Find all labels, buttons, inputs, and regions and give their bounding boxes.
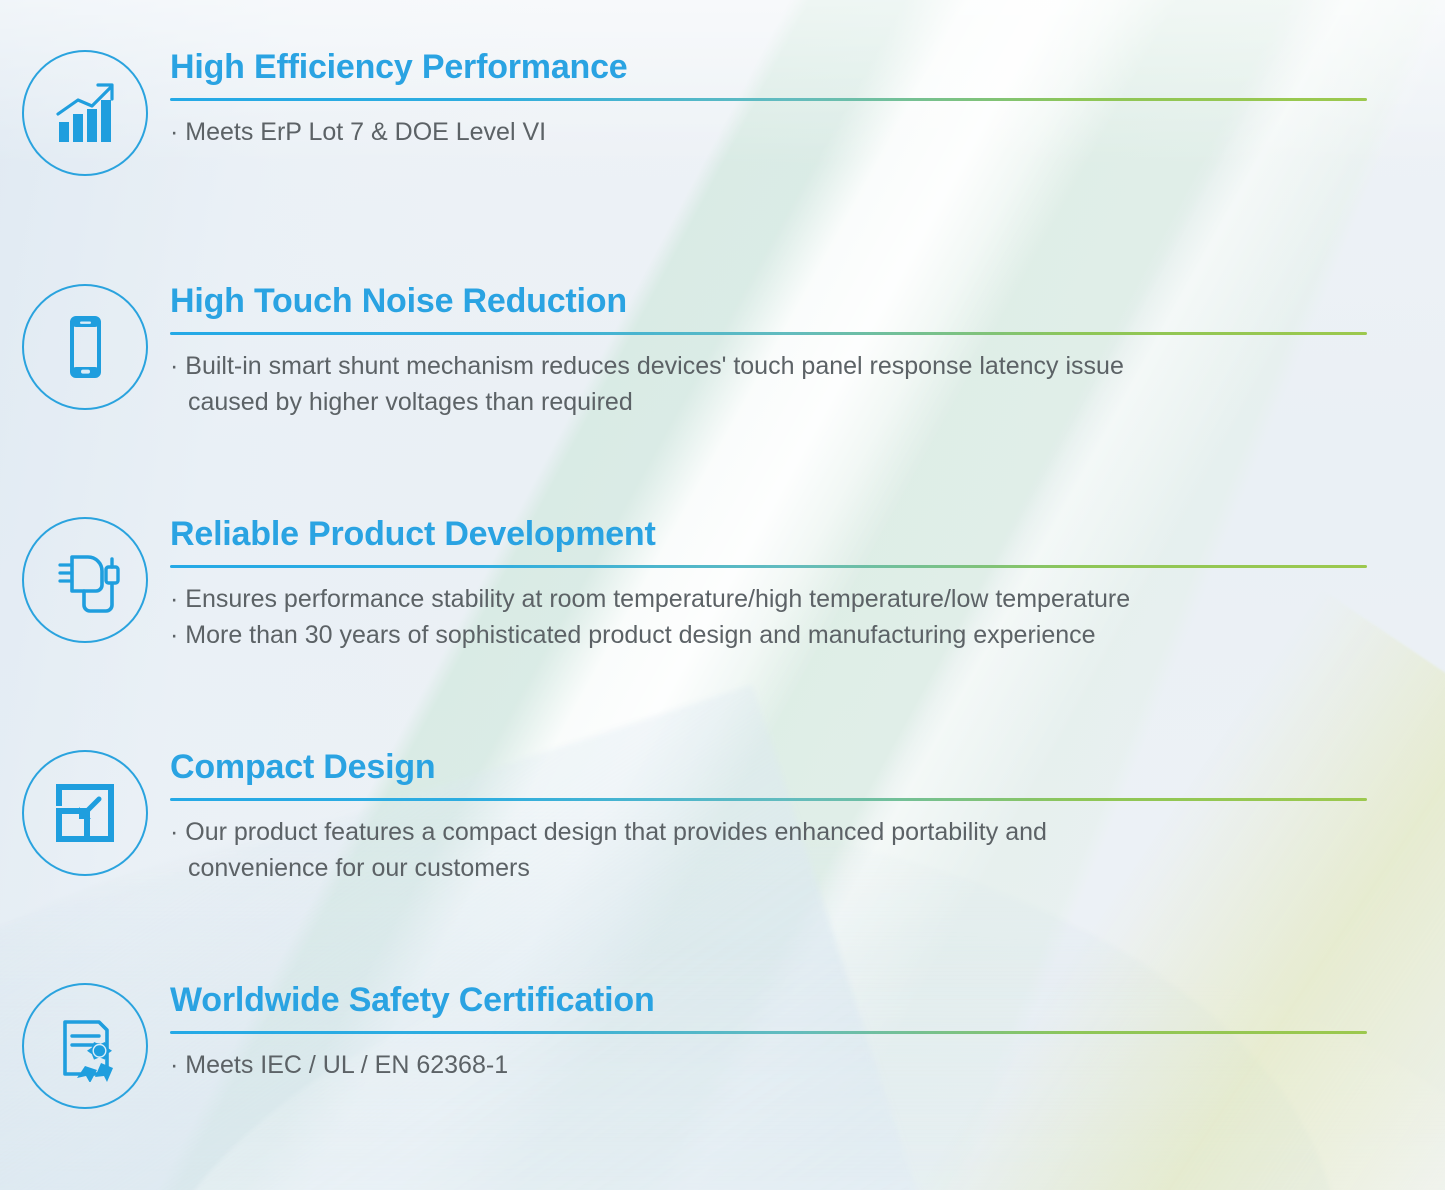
feature-title: Reliable Product Development: [170, 515, 1367, 554]
smartphone-icon: [22, 284, 148, 410]
feature-description: · Meets IEC / UL / EN 62368-1: [170, 1048, 1367, 1084]
feature-description-line: caused by higher voltages than required: [170, 385, 1367, 421]
feature-description-line: · Our product features a compact design …: [170, 815, 1367, 851]
feature-divider-rule: [170, 798, 1367, 801]
feature-item-compact-design: Compact Design · Our product features a …: [0, 748, 1445, 887]
feature-description: · Our product features a compact design …: [170, 815, 1367, 887]
feature-icon-container: [0, 748, 170, 876]
feature-text-column: Worldwide Safety Certification · Meets I…: [170, 981, 1445, 1084]
feature-divider-rule: [170, 332, 1367, 335]
compact-resize-icon: [22, 750, 148, 876]
feature-text-column: High Touch Noise Reduction · Built-in sm…: [170, 282, 1445, 421]
feature-title: High Efficiency Performance: [170, 48, 1367, 87]
feature-item-worldwide-safety-certification: Worldwide Safety Certification · Meets I…: [0, 981, 1445, 1109]
feature-text-column: Compact Design · Our product features a …: [170, 748, 1445, 887]
bar-chart-growth-icon: [22, 50, 148, 176]
feature-title: High Touch Noise Reduction: [170, 282, 1367, 321]
feature-item-high-efficiency-performance: High Efficiency Performance · Meets ErP …: [0, 48, 1445, 176]
feature-title: Compact Design: [170, 748, 1367, 787]
feature-description: · Ensures performance stability at room …: [170, 582, 1367, 654]
feature-divider-rule: [170, 565, 1367, 568]
feature-highlights-page: High Efficiency Performance · Meets ErP …: [0, 0, 1445, 1190]
feature-description-line: convenience for our customers: [170, 851, 1367, 887]
feature-item-high-touch-noise-reduction: High Touch Noise Reduction · Built-in sm…: [0, 282, 1445, 421]
feature-description-line: · More than 30 years of sophisticated pr…: [170, 618, 1367, 654]
feature-divider-rule: [170, 1031, 1367, 1034]
feature-description-line: · Meets IEC / UL / EN 62368-1: [170, 1048, 1367, 1084]
feature-description: · Built-in smart shunt mechanism reduces…: [170, 349, 1367, 421]
feature-icon-container: [0, 981, 170, 1109]
feature-description-line: · Ensures performance stability at room …: [170, 582, 1367, 618]
feature-title: Worldwide Safety Certification: [170, 981, 1367, 1020]
feature-description: · Meets ErP Lot 7 & DOE Level VI: [170, 115, 1367, 151]
feature-icon-container: [0, 282, 170, 410]
power-adapter-icon: [22, 517, 148, 643]
feature-description-line: · Meets ErP Lot 7 & DOE Level VI: [170, 115, 1367, 151]
feature-divider-rule: [170, 98, 1367, 101]
certificate-award-icon: [22, 983, 148, 1109]
feature-description-line: · Built-in smart shunt mechanism reduces…: [170, 349, 1367, 385]
feature-icon-container: [0, 48, 170, 176]
feature-text-column: High Efficiency Performance · Meets ErP …: [170, 48, 1445, 151]
feature-item-reliable-product-development: Reliable Product Development · Ensures p…: [0, 515, 1445, 654]
feature-text-column: Reliable Product Development · Ensures p…: [170, 515, 1445, 654]
feature-icon-container: [0, 515, 170, 643]
